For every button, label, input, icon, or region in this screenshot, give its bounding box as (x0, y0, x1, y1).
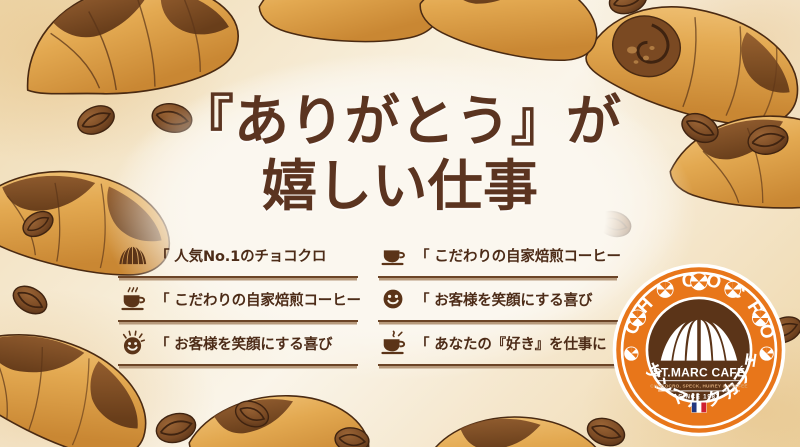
feature-label: 「 人気No.1のチョコクロ (155, 245, 326, 266)
feature-item-coffee-right: 「 こだわりの自家焙煎コーヒー (378, 234, 618, 278)
headline-line-1: 『ありがとう』が (0, 93, 800, 149)
feature-label: 「 お客様を笑顔にする喜び (415, 289, 592, 310)
smiling-face-sparkle-icon (118, 329, 148, 357)
croissant-fan-icon (118, 241, 148, 269)
headline-line-2: 嬉しい仕事 (0, 158, 800, 214)
st-marc-cafe-logo: CHOCOCRO サンマルクカフェ (610, 261, 788, 439)
coffee-cup-steam-small-icon (378, 329, 408, 357)
page-title: 『ありがとう』が 嬉しい仕事 (0, 93, 800, 213)
smiling-face-icon (378, 285, 408, 313)
logo-since-text: SINCE 1987 (678, 394, 720, 401)
feature-list: 「 人気No.1のチョコクロ 「 こだわりの自家焙煎コーヒー (118, 234, 618, 366)
feature-label: 「 お客様を笑顔にする喜び (155, 333, 332, 354)
feature-label: 「 こだわりの自家焙煎コーヒー (415, 245, 621, 266)
feature-label: 「 こだわりの自家焙煎コーヒー (155, 289, 361, 310)
feature-item-coffee-left: 「 こだわりの自家焙煎コーヒー (118, 278, 358, 322)
feature-label: 「 あなたの『好き』を仕事に (415, 333, 607, 354)
coffee-cup-icon (378, 241, 408, 269)
french-flag-icon (692, 403, 706, 413)
coffee-cup-steam-icon (118, 285, 148, 313)
logo-tagline-text: CHOCOCRO, SPECK, HUIREY & COFFEE (650, 383, 747, 388)
logo-brand-text: ST.MARC CAFÉ (653, 365, 746, 380)
feature-item-smile-right: 「 お客様を笑顔にする喜び (378, 278, 618, 322)
feature-item-your-passion: 「 あなたの『好き』を仕事に (378, 322, 618, 366)
recruit-banner: 『ありがとう』が 嬉しい仕事 (0, 0, 800, 447)
registered-mark: ® (747, 355, 753, 364)
feature-item-chococro: 「 人気No.1のチョコクロ (118, 234, 358, 278)
feature-item-smile-left: 「 お客様を笑顔にする喜び (118, 322, 358, 366)
